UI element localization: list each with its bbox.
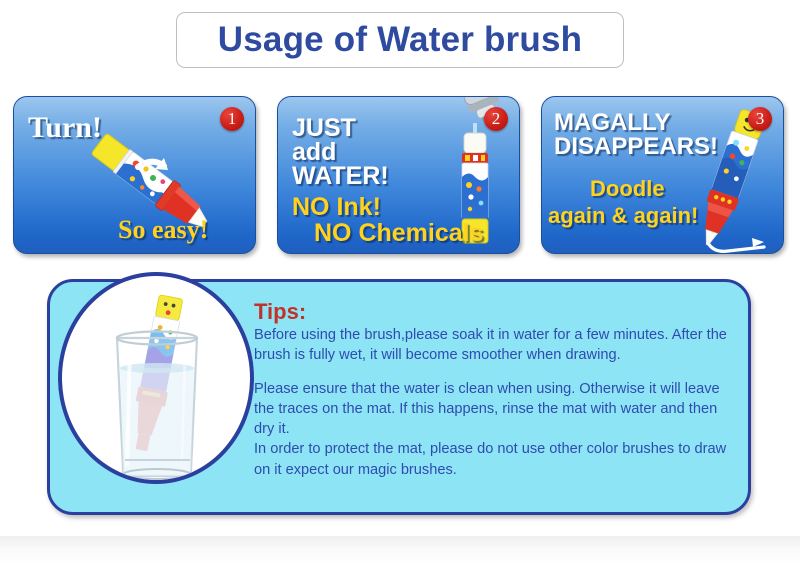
glass-of-water-icon xyxy=(81,290,231,480)
tips-paragraph-1: Before using the brush,please soak it in… xyxy=(254,325,740,365)
tips-heading: Tips: xyxy=(254,300,740,324)
infographic-page: Usage of Water brush 1 Turn! So easy! xyxy=(0,0,800,565)
page-title-box: Usage of Water brush xyxy=(176,12,624,68)
step-number-badge-3: 3 xyxy=(748,107,772,131)
panel-3-subline: Doodle xyxy=(590,176,665,202)
step-panel-2: 2 JUST add WATER! NO Ink! NO Chemicals xyxy=(277,96,520,254)
panel-1-headline: Turn! xyxy=(28,111,102,145)
bottom-shelf-shadow xyxy=(0,536,800,565)
page-title: Usage of Water brush xyxy=(218,20,582,60)
tips-paragraph-3: In order to protect the mat, please do n… xyxy=(254,439,740,479)
panel-1-subline: So easy! xyxy=(118,215,208,245)
step-number-badge-2: 2 xyxy=(484,107,508,131)
panel-2-subline: NO Ink! xyxy=(292,193,381,222)
step-panel-1: 1 Turn! So easy! xyxy=(13,96,256,254)
panel-2-headline: JUST add WATER! xyxy=(292,117,389,188)
panel-2-subline-2: NO Chemicals xyxy=(314,219,484,248)
glass-illustration-circle xyxy=(58,272,254,484)
tips-paragraph-2: Please ensure that the water is clean wh… xyxy=(254,379,740,439)
step-panel-3: 3 MAGALLY DISAPPEARS! Doodle again & aga… xyxy=(541,96,784,254)
step-number-badge-1: 1 xyxy=(220,107,244,131)
panel-3-headline: MAGALLY DISAPPEARS! xyxy=(554,111,718,160)
panel-3-subline-2: again & again! xyxy=(548,203,698,229)
tips-text-block: Tips: Before using the brush,please soak… xyxy=(254,300,740,480)
